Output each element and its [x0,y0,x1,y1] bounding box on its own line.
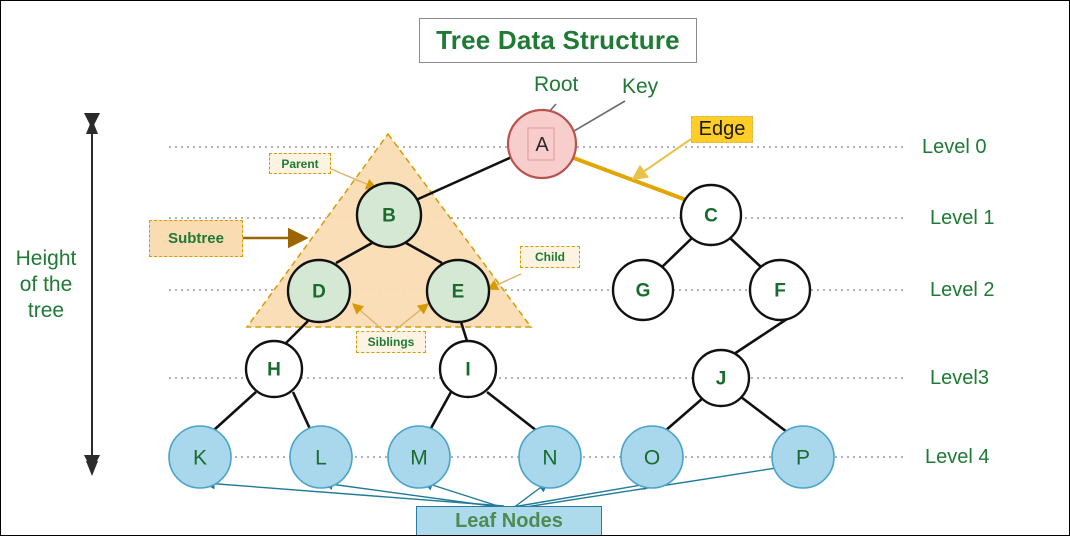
edge-I-N [487,392,537,431]
node-label-N: N [542,447,557,470]
node-label-B: B [382,206,396,227]
level-label-0: Level 0 [922,136,987,159]
node-label-G: G [636,281,651,302]
level-label-3: Level3 [930,367,989,390]
node-label-P: P [796,447,810,470]
level-label-4: Level 4 [925,446,990,469]
node-label-J: J [716,369,727,390]
node-I[interactable]: I [440,341,496,397]
diagram-canvas: A B C D E G F [0,0,1070,536]
edge-J-P [741,397,787,432]
child-tag: Child [520,246,580,268]
node-label-K: K [193,447,207,470]
node-O[interactable]: O [621,426,683,488]
node-E[interactable]: E [427,260,489,322]
node-label-M: M [410,447,428,470]
height-label-line3: tree [3,298,89,324]
node-F[interactable]: F [750,260,810,320]
height-of-tree-label: Height of the tree [3,246,89,324]
node-label-C: C [704,206,718,227]
node-M[interactable]: M [388,426,450,488]
parent-tag: Parent [269,153,331,174]
edge-tag: Edge [691,116,753,143]
edge-pointer [633,139,691,179]
node-label-F: F [774,281,786,302]
edge-C-G [662,238,692,267]
subtree-tag: Subtree [149,220,243,257]
node-B[interactable]: B [357,183,421,247]
node-J[interactable]: J [693,350,749,406]
node-label-E: E [452,282,465,303]
node-L[interactable]: L [290,426,352,488]
leaf-nodes-tag: Leaf Nodes [416,506,602,536]
edge-A-B [416,156,514,200]
node-label-D: D [312,282,326,303]
node-P[interactable]: P [772,426,834,488]
leaf-arrow-O [513,483,653,507]
title-box: Tree Data Structure [419,18,697,63]
edge-A-C [571,157,689,201]
node-label-O: O [644,447,660,470]
edge-C-F [730,238,761,267]
siblings-tag: Siblings [356,331,426,353]
node-label-I: I [465,360,470,381]
edge-F-J [734,317,790,354]
node-label-H: H [267,360,281,381]
leaf-node-arrows [205,466,789,509]
edge-I-M [430,392,451,430]
node-A[interactable]: A [508,110,576,178]
node-label-L: L [315,447,327,470]
leaf-arrow-K [205,483,504,506]
edge-H-K [214,392,256,430]
edge-J-O [665,398,703,431]
page-title: Tree Data Structure [436,25,680,56]
node-C[interactable]: C [681,185,741,245]
node-G[interactable]: G [613,260,673,320]
node-D[interactable]: D [288,260,350,322]
root-label: Root [534,73,578,97]
node-N[interactable]: N [519,426,581,488]
node-K[interactable]: K [169,426,231,488]
node-label-A: A [535,134,549,156]
edge-H-L [293,392,310,429]
height-label-line1: Height [3,246,89,272]
node-H[interactable]: H [246,341,302,397]
level-label-2: Level 2 [930,279,995,302]
key-label: Key [622,75,658,99]
height-label-line2: of the [3,272,89,298]
level-label-1: Level 1 [930,207,995,230]
